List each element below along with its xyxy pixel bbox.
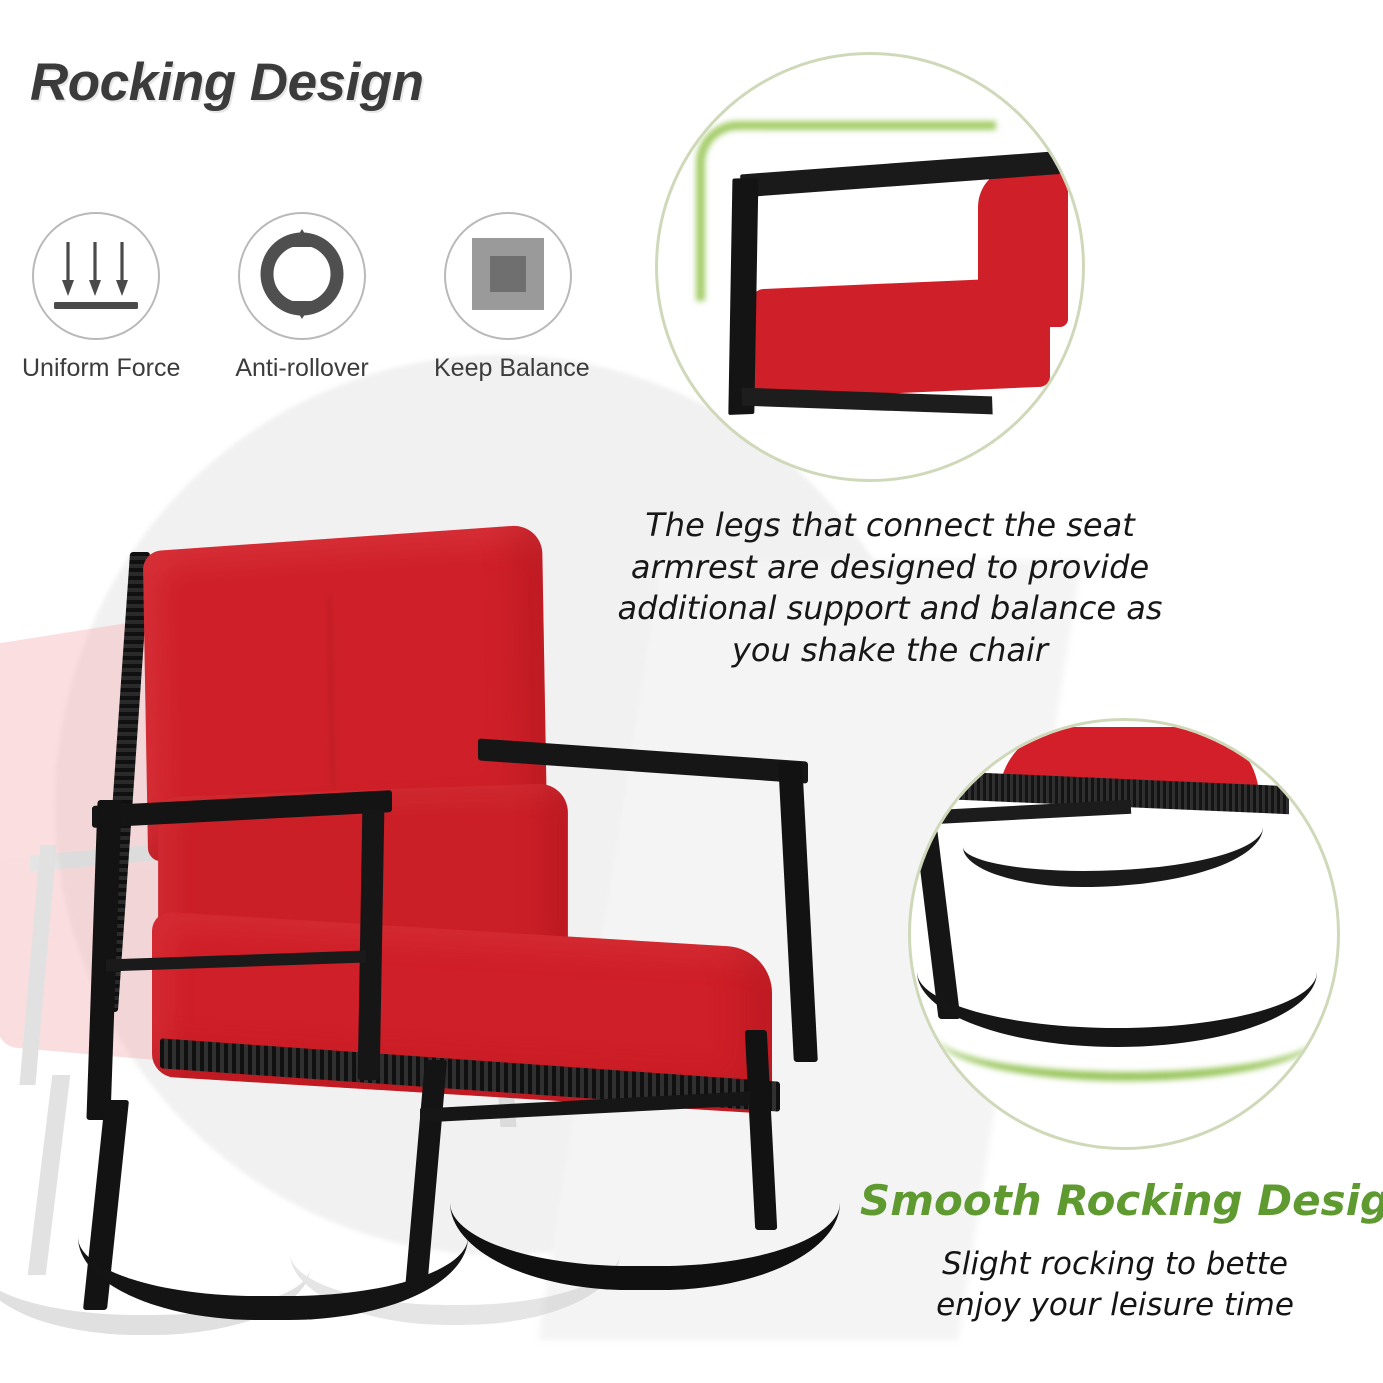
green-motion-swoosh-icon [937, 991, 1317, 1081]
feature-uniform-force: Uniform Force [22, 212, 170, 383]
inset-rocker-detail [908, 718, 1340, 1150]
rocker-runner-right [450, 1100, 840, 1290]
feature-icon-row: Uniform Force Anti-rollover [22, 212, 582, 383]
smooth-rocking-subtext-line1: Slight rocking to bette [880, 1244, 1350, 1285]
feature-label: Anti-rollover [228, 354, 376, 383]
infographic-canvas: Rocking Design [0, 0, 1383, 1383]
circular-rotation-arrows-icon [255, 227, 349, 326]
inset-armrest-frame [726, 157, 1064, 408]
downward-arrows-on-bar-icon [50, 232, 142, 321]
chair-right-armrest-post [778, 762, 818, 1062]
feature-icon-frame [444, 212, 572, 340]
inset-armrest-detail [655, 52, 1085, 482]
support-paragraph: The legs that connect the seat armrest a… [600, 505, 1180, 671]
smooth-rocking-heading: Smooth Rocking Design [860, 1176, 1380, 1225]
feature-label: Uniform Force [22, 354, 170, 383]
rocker-runner-left [78, 1140, 468, 1320]
smooth-rocking-subtext-line2: enjoy your leisure time [880, 1285, 1350, 1326]
feature-label: Keep Balance [434, 354, 582, 383]
feature-anti-rollover: Anti-rollover [228, 212, 376, 383]
feature-icon-frame [238, 212, 366, 340]
smooth-rocking-subtext: Slight rocking to bette enjoy your leisu… [880, 1244, 1350, 1326]
feature-keep-balance: Keep Balance [434, 212, 582, 383]
chair-left-armrest-rear-post [358, 810, 385, 1080]
page-title: Rocking Design [30, 52, 424, 113]
nested-squares-icon [468, 234, 548, 319]
inset-armrest-base-bar [742, 388, 993, 415]
feature-icon-frame [32, 212, 160, 340]
inset-armrest-post [728, 178, 758, 415]
